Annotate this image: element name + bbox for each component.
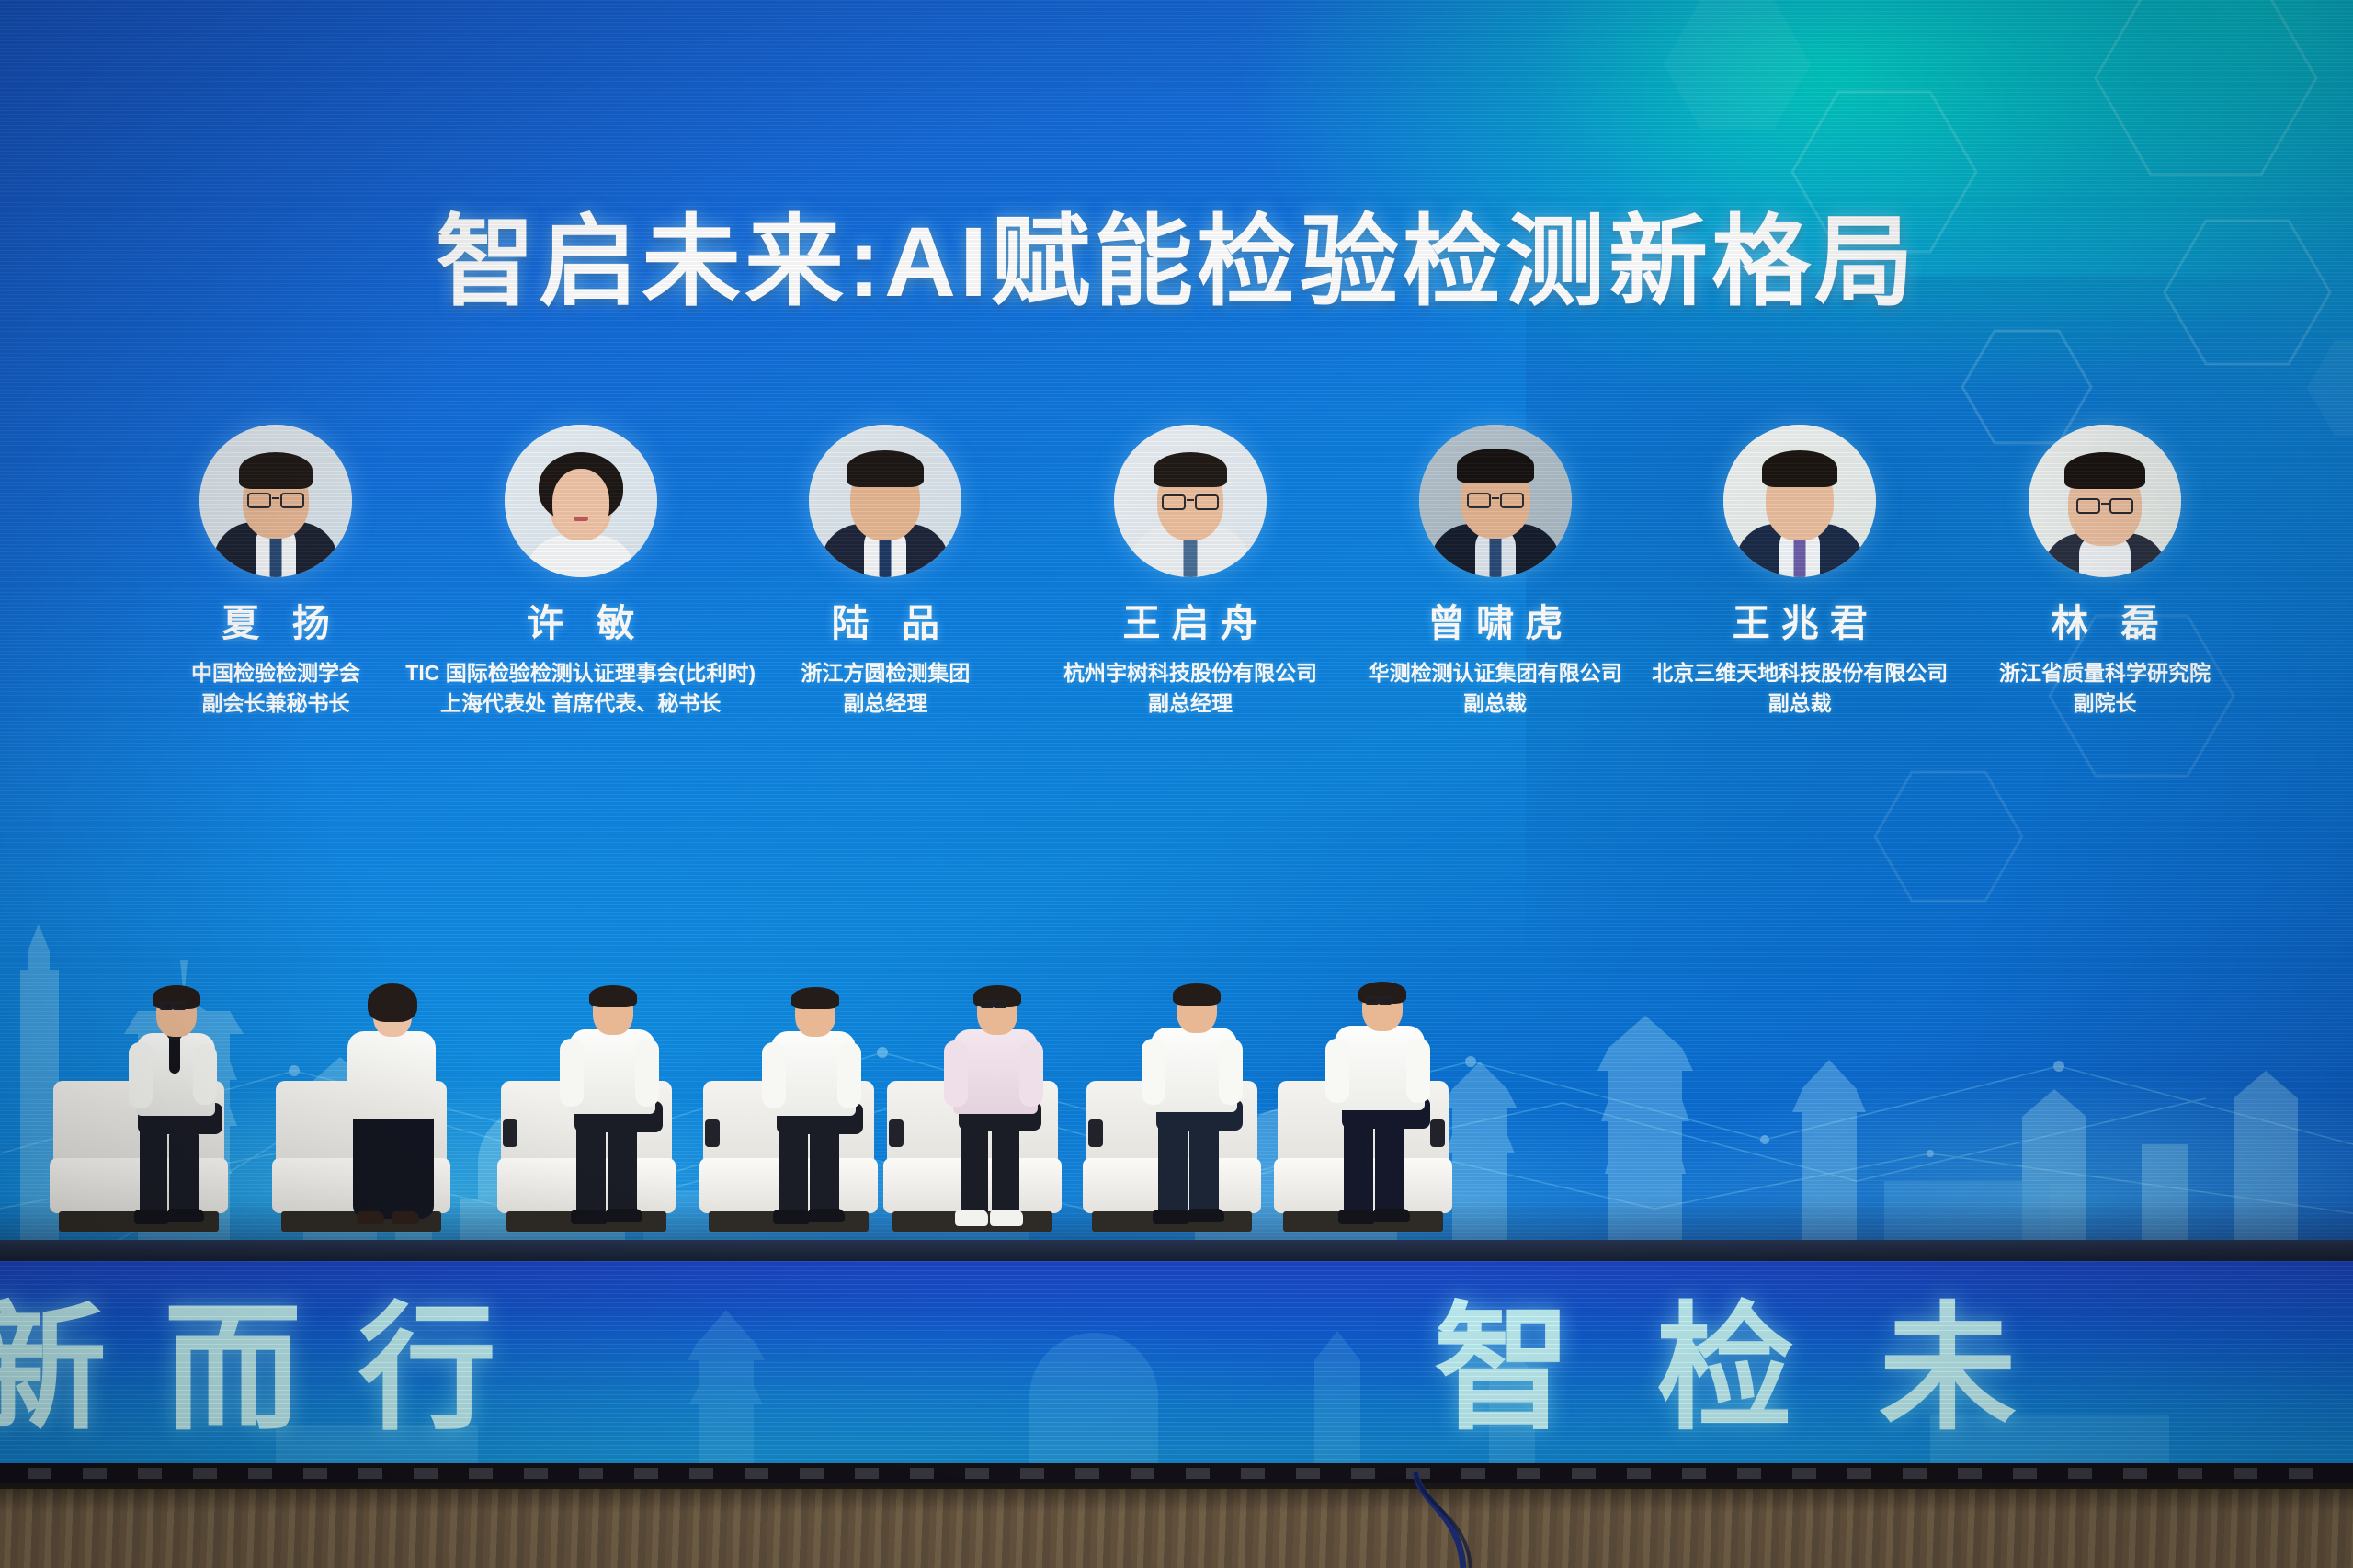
panelist-card: 王启舟 杭州宇树科技股份有限公司 副总经理 [1052,425,1328,718]
stage-person [1138,989,1285,1219]
panelist-org: 浙江省质量科学研究院 [1999,658,2211,688]
panelist-name: 陆 品 [821,592,950,647]
panelist-card: 夏 扬 中国检验检测学会 副会长兼秘书长 [138,425,414,718]
banner-text-row: 新而行 智检未 [0,1265,2353,1449]
panelist-name: 夏 扬 [210,592,340,647]
panelist-role: 副总裁 [1768,688,1832,719]
portrait-lu-pin-avatar [809,425,961,577]
portrait-zeng-xiaohu-avatar [1419,425,1572,577]
panelist-card: 王兆君 北京三维天地科技股份有限公司 副总裁 [1662,425,1938,718]
panelist-org: TIC 国际检验检测认证理事会(比利时) [405,658,756,688]
seated-panelists [0,910,2353,1232]
panelist-card: 陆 品 浙江方圆检测集团 副总经理 [747,425,1023,718]
stage-seat [1086,928,1270,1232]
panelist-name: 王启舟 [1111,592,1268,647]
panelist-grid: 夏 扬 中国检验检测学会 副会长兼秘书长 许 敏 TIC 国际检验检测认证理事会… [138,425,2243,756]
stage-seat [276,928,460,1232]
panelist-org: 浙江方圆检测集团 [801,658,970,688]
portrait-lin-lei-avatar [2029,425,2181,577]
stage-person [119,989,257,1219]
stage-cable-icon [0,1467,2353,1568]
portrait-xu-min-avatar [505,425,657,577]
conference-stage-photo: 智启未来:AI赋能检验检测新格局 夏 扬 中国检验检测学会 副会长兼秘书长 [0,0,2353,1568]
panelist-card: 曾啸虎 华测检测认证集团有限公司 副总裁 [1358,425,1633,718]
stage-person [940,989,1087,1219]
panelist-card: 许 敏 TIC 国际检验检测认证理事会(比利时) 上海代表处 首席代表、秘书长 [443,425,719,718]
portrait-wang-qizhou-avatar [1114,425,1267,577]
panelist-org: 北京三维天地科技股份有限公司 [1652,658,1948,688]
stage-person [336,989,474,1219]
panelist-role: 副院长 [2073,688,2136,719]
panelist-org: 华测检测认证集团有限公司 [1369,658,1622,688]
panelist-role: 上海代表处 首席代表、秘书长 [440,688,721,719]
panelist-role: 副总经理 [1148,688,1233,719]
panelist-name: 曾啸虎 [1416,592,1574,647]
panelist-org: 杭州宇树科技股份有限公司 [1063,658,1317,688]
banner-text-right: 智检未 [1434,1261,2101,1457]
panelist-name: 许 敏 [516,592,645,647]
stage-seat [887,928,1071,1232]
screen-title: 智启未来:AI赋能检验检测新格局 [0,210,2353,313]
portrait-xia-yang-avatar [199,425,352,577]
panelist-org: 中国检验检测学会 [191,658,360,688]
stage-person [554,989,701,1219]
lower-led-banner: 新而行 智检未 [0,1261,2353,1471]
panelist-role: 副总经理 [843,688,927,719]
stage-seat [53,928,237,1232]
stage-person [1322,989,1469,1219]
panelist-role: 副会长兼秘书长 [202,688,350,719]
panelist-card: 林 磊 浙江省质量科学研究院 副院长 [1967,425,2243,718]
banner-text-left: 新而行 [0,1261,553,1457]
panelist-name: 王兆君 [1722,592,1879,647]
portrait-wang-zhaojun-avatar [1723,425,1876,577]
panelist-name: 林 磊 [2040,592,2169,647]
stage-seat [703,928,887,1232]
panelist-role: 副总裁 [1463,688,1527,719]
stage-seat [1278,928,1461,1232]
stage-seat [501,928,685,1232]
